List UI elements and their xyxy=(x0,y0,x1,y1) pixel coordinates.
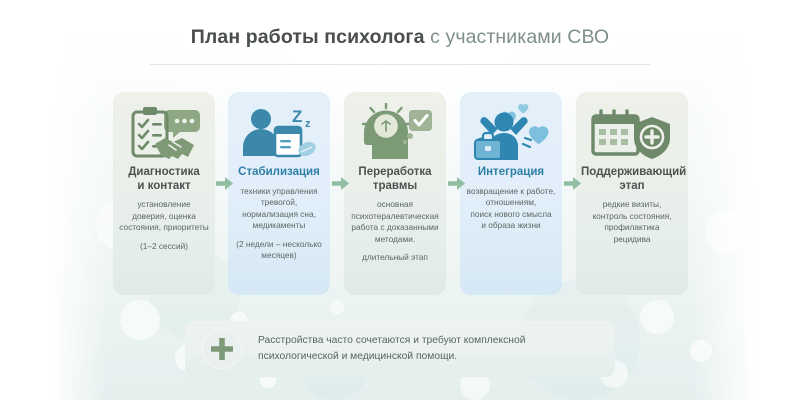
stage-arrow-4 xyxy=(564,177,581,195)
stage-note-3: длительный этап xyxy=(347,252,443,264)
medication-icon xyxy=(275,127,318,159)
stage-arrow-3 xyxy=(448,177,465,195)
calendar-icon xyxy=(593,111,638,154)
title-strong: План работы психолога xyxy=(191,26,425,48)
svg-text:z: z xyxy=(305,118,311,130)
stage-title-line2-1: и контакт xyxy=(137,180,190,192)
stage-note-2: (2 недели – несколько месяцев) xyxy=(231,239,327,262)
stage-title-line1-3: Переработка xyxy=(358,166,431,178)
shield-plus-icon xyxy=(634,117,670,159)
footer-text-line2: психологической и медицинской помощи. xyxy=(258,349,525,365)
stage-description-1: установление доверия, оценка состояния, … xyxy=(116,199,212,234)
stage-card-stabilizatsiya[interactable]: Z z xyxy=(228,92,330,295)
stage-icon-group-5 xyxy=(579,102,685,164)
stage-cards: Диагностика и контакт установление довер… xyxy=(0,92,800,297)
person-icon xyxy=(243,109,279,156)
title-divider xyxy=(150,64,650,65)
stage-card-integratsiya[interactable]: Интеграция возвращение к работе, отношен… xyxy=(460,92,562,295)
stage-icon-group-3 xyxy=(347,102,443,164)
stage-title-line2-5: этап xyxy=(619,180,644,192)
stage-arrow-1 xyxy=(216,177,233,195)
stage-title-line1-2: Стабилизация xyxy=(238,166,320,178)
title-light: с участниками СВО xyxy=(425,26,610,48)
svg-text:Z: Z xyxy=(292,107,302,126)
stage-description-5: редкие визиты, контроль состояния, профи… xyxy=(579,199,685,245)
speech-bubble-icon xyxy=(164,110,200,138)
stage-note-1: (1–2 сессий) xyxy=(116,241,212,253)
stage-title-line1-5: Поддерживающий xyxy=(581,166,686,178)
medical-cross-icon xyxy=(202,329,242,369)
stage-card-diagnostika[interactable]: Диагностика и контакт установление довер… xyxy=(113,92,215,295)
stage-title-line2-3: травмы xyxy=(373,180,417,192)
page-title: План работы психолога с участниками СВО xyxy=(0,26,800,49)
stage-icon-group-2: Z z xyxy=(231,102,327,164)
stage-card-podderzhivayushchiy[interactable]: Поддерживающий этап редкие визиты, контр… xyxy=(576,92,688,295)
stage-description-3: основная психотералевтическая работа с д… xyxy=(347,199,443,245)
stage-card-pererabotka-travmy[interactable]: Переработка травмы основная психотералев… xyxy=(344,92,446,295)
footer-note-banner: Расстройства часто сочетаются и требуют … xyxy=(185,321,615,377)
stage-icon-group-1 xyxy=(116,102,212,164)
stage-title-line1-4: Интеграция xyxy=(478,166,544,178)
stage-arrow-2 xyxy=(332,177,349,195)
stage-icon-group-4 xyxy=(463,102,559,164)
stage-description-2: техники управления тревогой, нормализаци… xyxy=(231,186,327,232)
stage-title-line1-1: Диагностика xyxy=(128,166,200,178)
footer-text-line1: Расстройства часто сочетаются и требуют … xyxy=(258,333,525,349)
stage-description-4: возвращение к работе, отношениям, поиск … xyxy=(463,186,559,232)
